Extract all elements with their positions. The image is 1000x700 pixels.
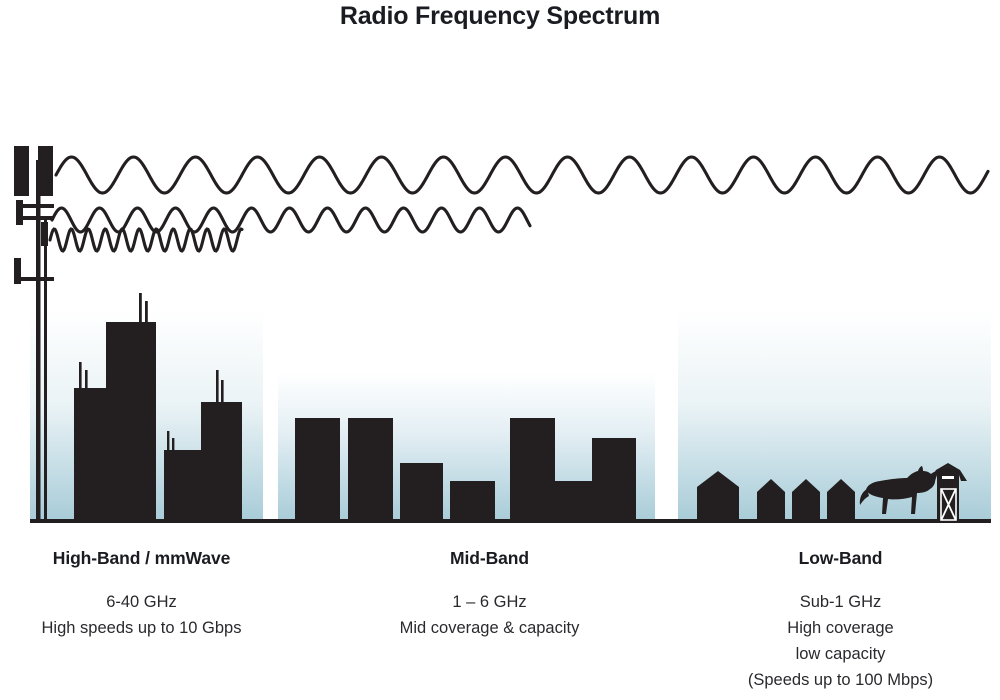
skyscraper-1-spire-a <box>79 362 82 389</box>
barn-hayloft-window <box>942 476 954 479</box>
skyscraper-2-spire-a <box>139 293 142 323</box>
skyscraper-1 <box>74 388 106 521</box>
skyscraper-1-spire-b <box>85 370 88 389</box>
tower-crossbar-lower <box>16 277 54 281</box>
skyscraper-4-spire-a <box>216 370 219 403</box>
midrise-building-3 <box>400 463 443 521</box>
band-line: 6-40 GHz <box>0 589 283 615</box>
midrise-building-4 <box>450 481 495 521</box>
tower-antenna-panel-mid2 <box>41 222 48 246</box>
band-lines-mid-band: 1 – 6 GHz Mid coverage & capacity <box>349 589 630 641</box>
band-column-mid-band: Mid-Band 1 – 6 GHz Mid coverage & capaci… <box>349 548 630 641</box>
midrise-building-5 <box>510 418 555 521</box>
skyscraper-3-spire-b <box>172 438 174 451</box>
tower-antenna-panel-lower <box>14 258 21 284</box>
midrise-building-1 <box>295 418 340 521</box>
band-lines-low-band: Sub-1 GHz High coverage low capacity (Sp… <box>700 589 981 693</box>
skyscraper-4-spire-b <box>221 380 224 403</box>
band-line: 1 – 6 GHz <box>349 589 630 615</box>
tower-antenna-panel-right <box>38 146 53 196</box>
skyscraper-2 <box>106 322 156 521</box>
skyscraper-2-spire-b <box>145 301 148 323</box>
band-line: Sub-1 GHz <box>700 589 981 615</box>
band-title-mid-band: Mid-Band <box>349 548 630 569</box>
tower-crossbar-upper2 <box>20 216 54 220</box>
skyscraper-3-spire-a <box>167 431 169 451</box>
midrise-building-2 <box>348 418 393 521</box>
midrise-building-6 <box>555 481 592 521</box>
band-line: High speeds up to 10 Gbps <box>0 615 283 641</box>
radio-waves <box>50 157 988 251</box>
band-line: Mid coverage & capacity <box>349 615 630 641</box>
band-title-high-band: High-Band / mmWave <box>0 548 283 569</box>
band-title-low-band: Low-Band <box>700 548 981 569</box>
tower-antenna-panel-left <box>14 146 29 196</box>
band-lines-high-band: 6-40 GHz High speeds up to 10 Gbps <box>0 589 283 641</box>
midrise-building-7 <box>592 438 636 521</box>
band-line: (Speeds up to 100 Mbps) <box>700 667 981 693</box>
band-column-high-band: High-Band / mmWave 6-40 GHz High speeds … <box>0 548 283 641</box>
tower-mast-left <box>36 160 41 521</box>
tower-mast-right <box>44 218 47 521</box>
skyscraper-3 <box>164 450 201 521</box>
skyscraper-4 <box>201 402 242 521</box>
band-line: low capacity <box>700 641 981 667</box>
page-title: Radio Frequency Spectrum <box>0 2 1000 31</box>
band-column-low-band: Low-Band Sub-1 GHz High coverage low cap… <box>700 548 981 693</box>
tower-antenna-panel-mid <box>16 200 23 225</box>
low-band-wave <box>56 157 988 193</box>
band-line: High coverage <box>700 615 981 641</box>
